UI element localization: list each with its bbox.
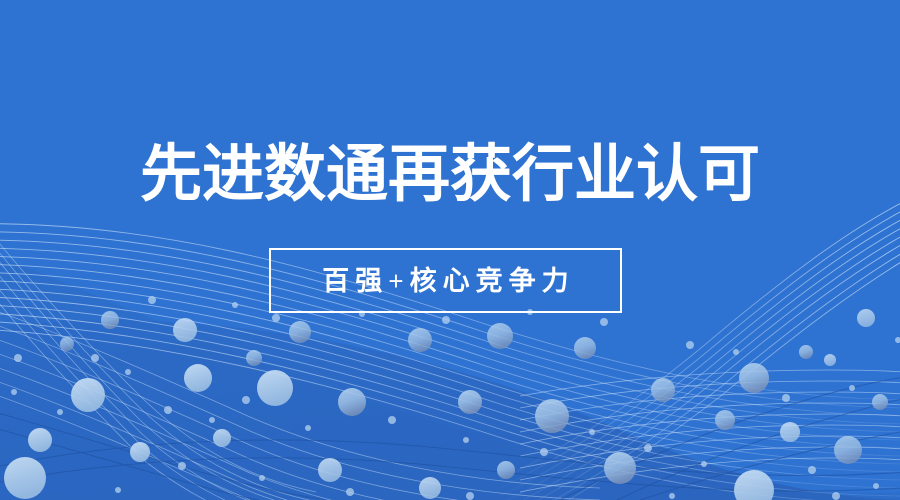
- subtitle-box: 百强+核心竞争力: [269, 248, 622, 313]
- subtitle-text: 百强+核心竞争力: [316, 266, 574, 296]
- promo-banner: 先进数通再获行业认可 百强+核心竞争力: [0, 0, 900, 500]
- text-layer: 先进数通再获行业认可 百强+核心竞争力: [0, 0, 900, 500]
- page-title: 先进数通再获行业认可: [0, 139, 900, 211]
